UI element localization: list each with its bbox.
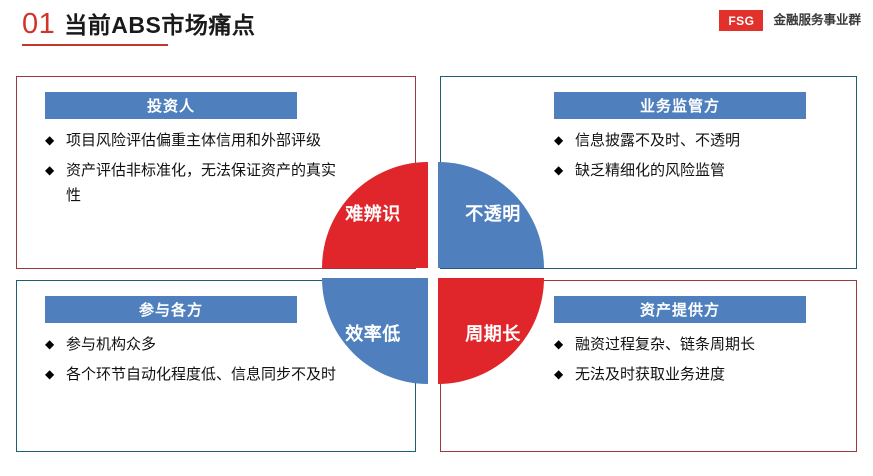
diamond-bullet-icon: ◆ bbox=[554, 159, 563, 182]
brand-name: 金融服务事业群 bbox=[763, 10, 861, 31]
slide-header: 01 当前ABS市场痛点 FSG 金融服务事业群 bbox=[0, 0, 873, 58]
quadrant-opaque: 不透明 bbox=[438, 162, 544, 268]
list-item-text: 资产评估非标准化，无法保证资产的真实性 bbox=[66, 162, 336, 203]
quadrant-long-cycle: 周期长 bbox=[438, 278, 544, 384]
list-item: ◆ 融资过程复杂、链条周期长 bbox=[554, 333, 854, 357]
diamond-bullet-icon: ◆ bbox=[45, 159, 54, 182]
list-item-text: 信息披露不及时、不透明 bbox=[575, 132, 740, 149]
list-item: ◆ 项目风险评估偏重主体信用和外部评级 bbox=[45, 129, 345, 153]
panel-participants-list: ◆ 参与机构众多 ◆ 各个环节自动化程度低、信息同步不及时 bbox=[45, 333, 345, 394]
slide-canvas: 01 当前ABS市场痛点 FSG 金融服务事业群 投资人 ◆ 项目风险评估偏重主… bbox=[0, 0, 873, 476]
diamond-bullet-icon: ◆ bbox=[554, 129, 563, 152]
panel-investor-list: ◆ 项目风险评估偏重主体信用和外部评级 ◆ 资产评估非标准化，无法保证资产的真实… bbox=[45, 129, 345, 214]
list-item-text: 融资过程复杂、链条周期长 bbox=[575, 336, 755, 353]
list-item-text: 各个环节自动化程度低、信息同步不及时 bbox=[66, 366, 336, 383]
list-item-text: 缺乏精细化的风险监管 bbox=[575, 162, 725, 179]
page-title: 01 当前ABS市场痛点 bbox=[22, 6, 255, 41]
panel-asset-provider-title: 资产提供方 bbox=[554, 296, 806, 323]
title-underline bbox=[22, 44, 168, 46]
diamond-bullet-icon: ◆ bbox=[554, 363, 563, 386]
diamond-bullet-icon: ◆ bbox=[554, 333, 563, 356]
list-item-text: 无法及时获取业务进度 bbox=[575, 366, 725, 383]
list-item: ◆ 无法及时获取业务进度 bbox=[554, 363, 854, 387]
list-item-text: 项目风险评估偏重主体信用和外部评级 bbox=[66, 132, 321, 149]
brand-badge: FSG bbox=[719, 10, 763, 31]
list-item: ◆ 资产评估非标准化，无法保证资产的真实性 bbox=[45, 159, 345, 208]
diamond-bullet-icon: ◆ bbox=[45, 129, 54, 152]
list-item: ◆ 缺乏精细化的风险监管 bbox=[554, 159, 854, 183]
diamond-bullet-icon: ◆ bbox=[45, 363, 54, 386]
panel-participants-title: 参与各方 bbox=[45, 296, 297, 323]
panel-regulator-title: 业务监管方 bbox=[554, 92, 806, 119]
panel-investor-title: 投资人 bbox=[45, 92, 297, 119]
diamond-bullet-icon: ◆ bbox=[45, 333, 54, 356]
list-item: ◆ 参与机构众多 bbox=[45, 333, 345, 357]
section-title: 当前ABS市场痛点 bbox=[64, 6, 255, 40]
quadrant-hard-to-identify: 难辨识 bbox=[322, 162, 428, 268]
quadrant-low-efficiency: 效率低 bbox=[322, 278, 428, 384]
panel-regulator-list: ◆ 信息披露不及时、不透明 ◆ 缺乏精细化的风险监管 bbox=[554, 129, 854, 190]
section-number: 01 bbox=[22, 8, 55, 41]
list-item: ◆ 各个环节自动化程度低、信息同步不及时 bbox=[45, 363, 345, 387]
list-item: ◆ 信息披露不及时、不透明 bbox=[554, 129, 854, 153]
brand-logo: FSG 金融服务事业群 bbox=[719, 10, 861, 31]
panel-asset-provider-list: ◆ 融资过程复杂、链条周期长 ◆ 无法及时获取业务进度 bbox=[554, 333, 854, 394]
list-item-text: 参与机构众多 bbox=[66, 336, 156, 353]
center-quadrant-diagram: 难辨识 不透明 效率低 周期长 bbox=[322, 162, 544, 384]
